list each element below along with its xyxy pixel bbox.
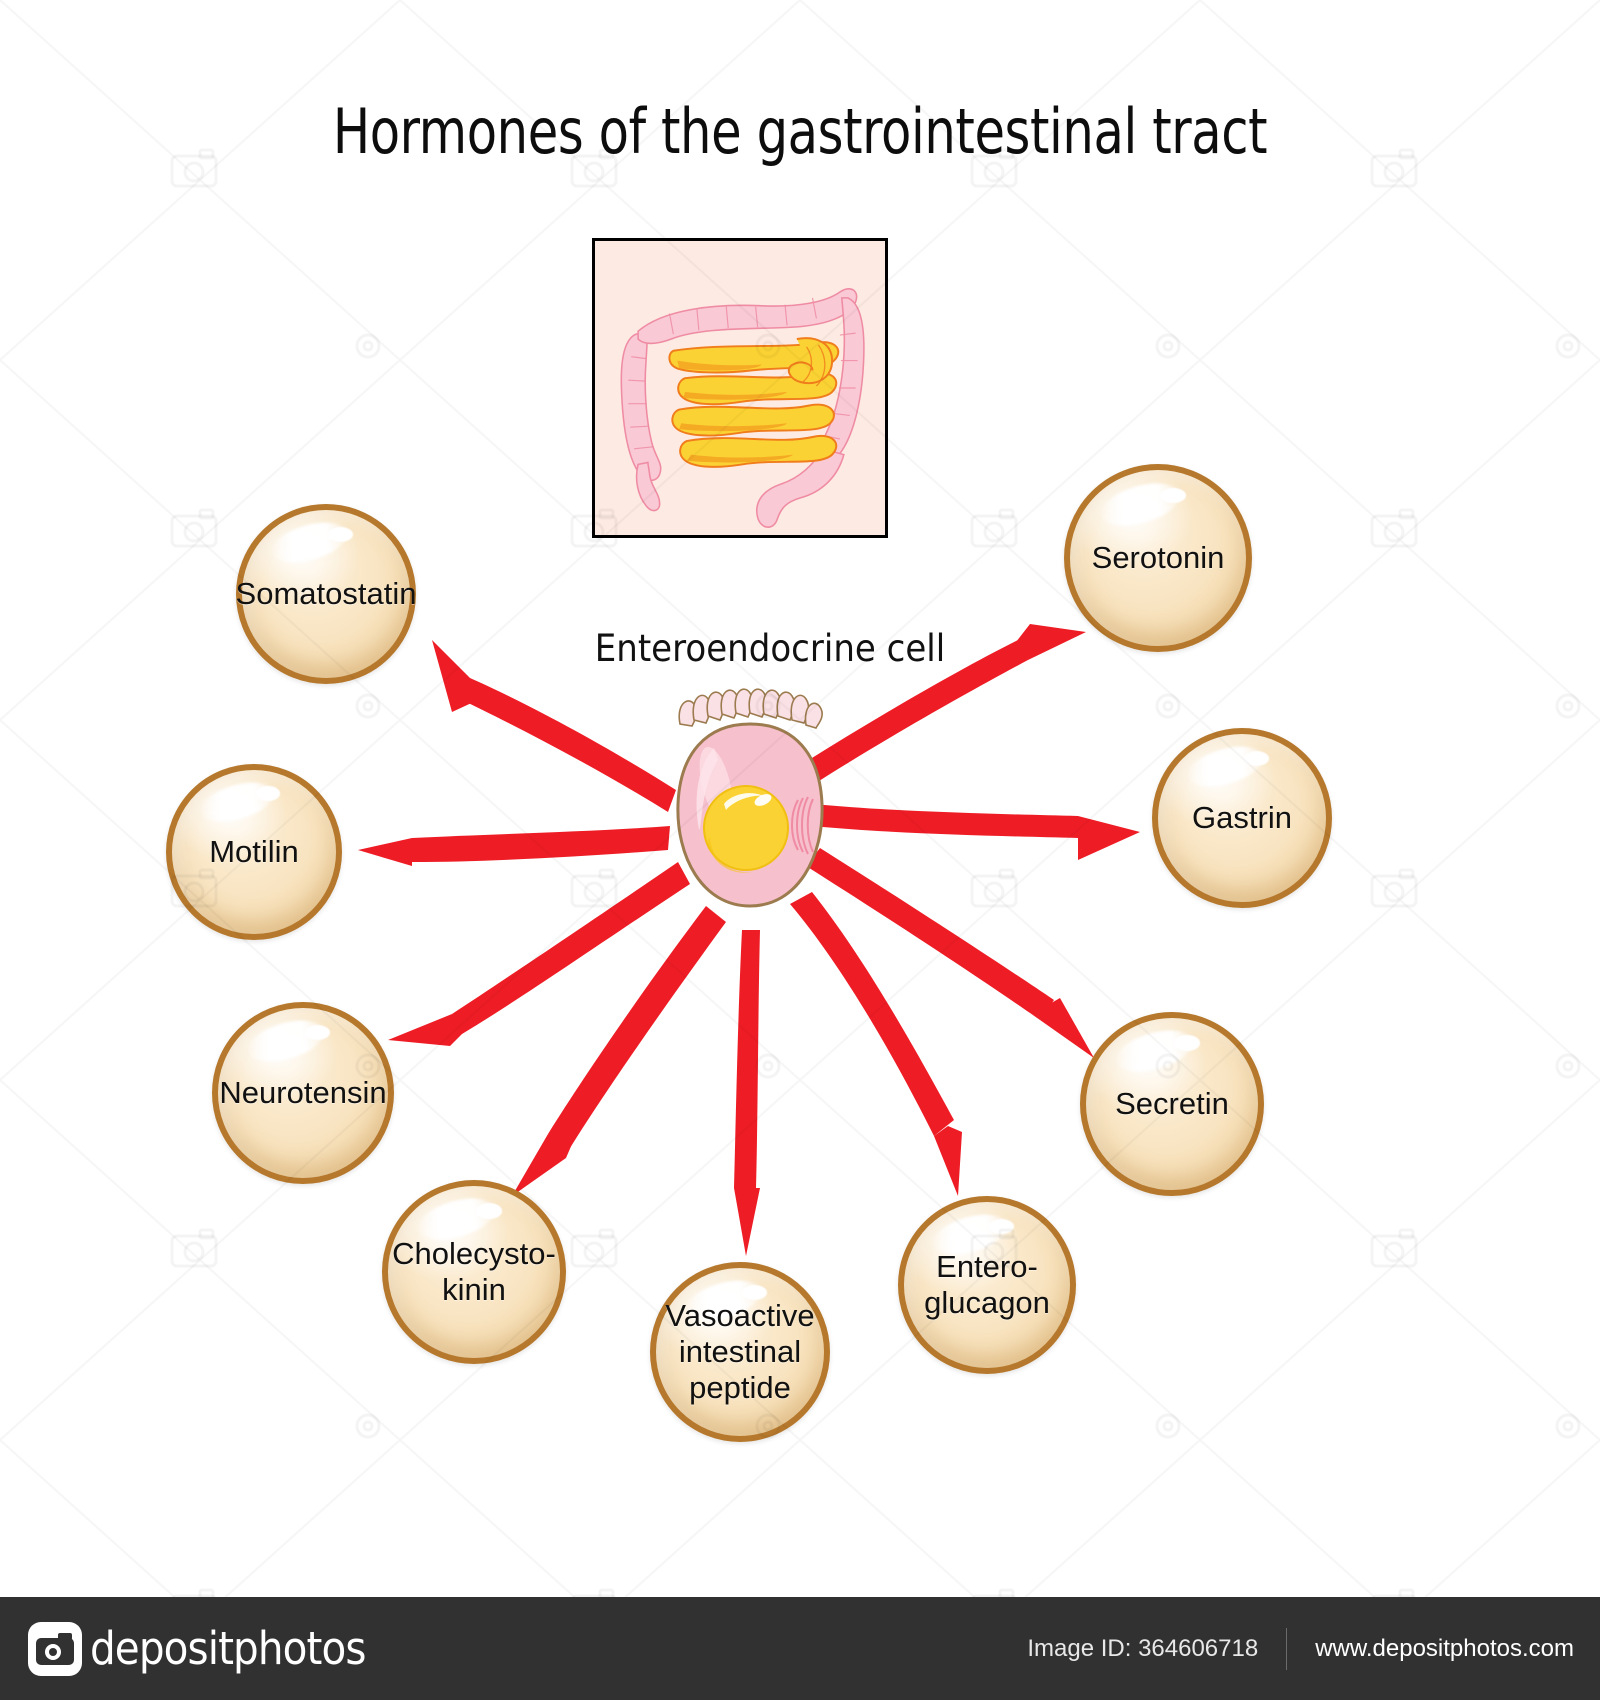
gastrointestinal-tract-illustration	[592, 238, 888, 538]
hormone-label-motilin: Motilin	[209, 834, 299, 870]
hormone-label-secretin: Secretin	[1115, 1086, 1229, 1122]
depositphotos-footer: depositphotos Image ID: 364606718 www.de…	[0, 1597, 1600, 1700]
page-title: Hormones of the gastrointestinal tract	[160, 96, 1440, 168]
hormone-bubble-secretin[interactable]: Secretin	[1080, 1012, 1264, 1196]
hormone-label-somatostatin: Somatostatin	[236, 576, 417, 612]
hormone-bubble-motilin[interactable]: Motilin	[166, 764, 342, 940]
hormone-bubble-serotonin[interactable]: Serotonin	[1064, 464, 1252, 652]
hormone-bubble-cholecystokinin[interactable]: Cholecysto- kinin	[382, 1180, 566, 1364]
enteroendocrine-cell	[640, 680, 860, 930]
footer-url[interactable]: www.depositphotos.com	[1287, 1635, 1574, 1663]
hormone-label-cholecystokinin: Cholecysto- kinin	[392, 1236, 556, 1308]
hormone-bubble-somatostatin[interactable]: Somatostatin	[236, 504, 416, 684]
image-id-text: Image ID: 364606718	[1027, 1635, 1286, 1663]
depositphotos-logo: depositphotos	[28, 1622, 396, 1676]
hormone-label-serotonin: Serotonin	[1092, 540, 1225, 576]
footer-meta: Image ID: 364606718 www.depositphotos.co…	[1027, 1597, 1574, 1700]
hormone-bubble-neurotensin[interactable]: Neurotensin	[212, 1002, 394, 1184]
brand-name: depositphotos	[90, 1622, 366, 1676]
hormone-label-neurotensin: Neurotensin	[219, 1075, 386, 1111]
camera-icon	[28, 1622, 82, 1676]
hormone-bubble-vasoactive-intestinal-peptide[interactable]: Vasoactive intestinal peptide	[650, 1262, 830, 1442]
hormone-label-vasoactive-intestinal-peptide: Vasoactive intestinal peptide	[665, 1298, 814, 1406]
hormone-bubble-enteroglucagon[interactable]: Entero- glucagon	[898, 1196, 1076, 1374]
hormone-label-enteroglucagon: Entero- glucagon	[924, 1249, 1050, 1321]
hormone-label-gastrin: Gastrin	[1192, 800, 1292, 836]
enteroendocrine-cell-label: Enteroendocrine cell	[448, 627, 1092, 671]
hormone-bubble-gastrin[interactable]: Gastrin	[1152, 728, 1332, 908]
